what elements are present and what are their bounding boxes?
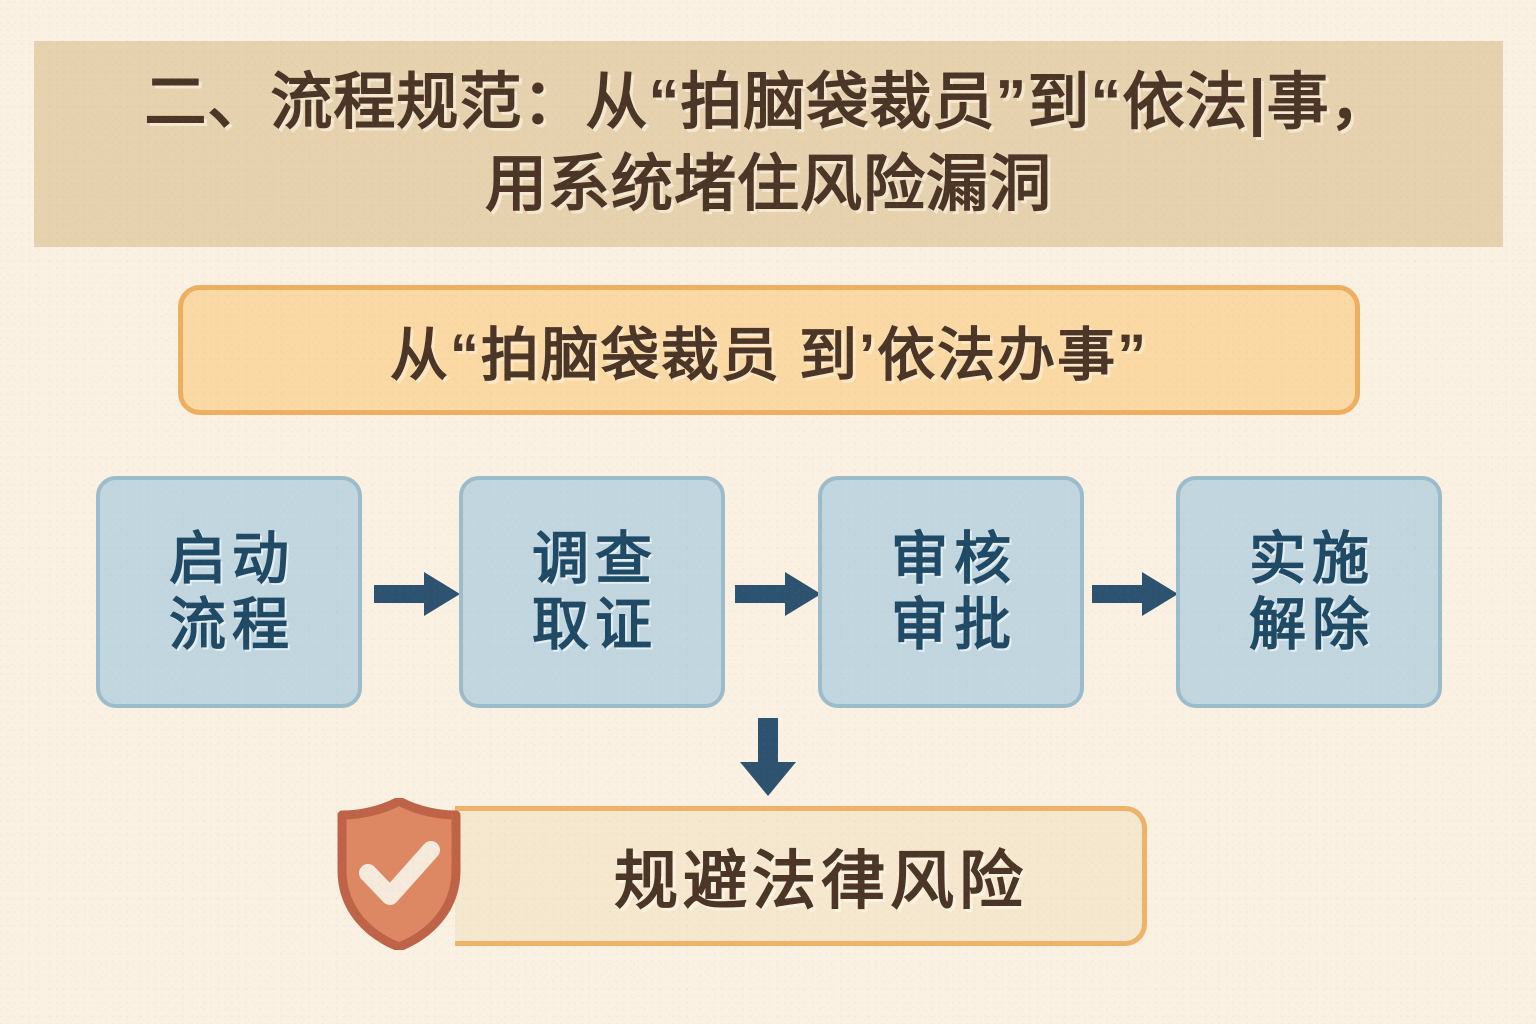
flow-step-box-3[interactable]: 审核 审批 — [818, 476, 1084, 708]
flow-step-1-line-1: 启动 — [163, 526, 295, 592]
flow-step-1-line-2: 流程 — [163, 592, 295, 658]
header-title-line-1: 二、流程规范：从“拍脑袋裁员”到“依法|事， — [144, 65, 1392, 141]
arrow-right-icon — [374, 572, 460, 616]
flow-step-box-1[interactable]: 启动 流程 — [96, 476, 362, 708]
flow-step-4-line-1: 实施 — [1243, 526, 1375, 592]
subtitle-text: 从“拍脑袋裁员 到’依法办事” — [390, 308, 1148, 392]
header-banner: 二、流程规范：从“拍脑袋裁员”到“依法|事， 用系统堵住风险漏洞 — [34, 41, 1503, 247]
flow-step-2-line-1: 调查 — [526, 526, 658, 592]
flow-step-3-line-1: 审核 — [885, 526, 1017, 592]
flow-step-3-line-2: 审批 — [885, 592, 1017, 658]
header-title-line-2: 用系统堵住风险漏洞 — [485, 147, 1052, 223]
result-banner: 规避法律风险 — [455, 806, 1147, 946]
flow-step-box-2[interactable]: 调查 取证 — [459, 476, 725, 708]
flow-step-2-line-2: 取证 — [526, 592, 658, 658]
arrow-right-icon — [735, 572, 821, 616]
arrow-right-icon — [1092, 572, 1178, 616]
result-text: 规避法律风险 — [609, 830, 1028, 922]
arrow-down-icon — [740, 718, 796, 796]
shield-check-icon — [334, 798, 464, 950]
process-flow-row: 启动 流程 调查 取证 审核 审批 实施 解除 — [96, 476, 1442, 708]
flow-step-box-4[interactable]: 实施 解除 — [1176, 476, 1442, 708]
subtitle-banner: 从“拍脑袋裁员 到’依法办事” — [178, 285, 1360, 415]
flow-step-4-line-2: 解除 — [1243, 592, 1375, 658]
